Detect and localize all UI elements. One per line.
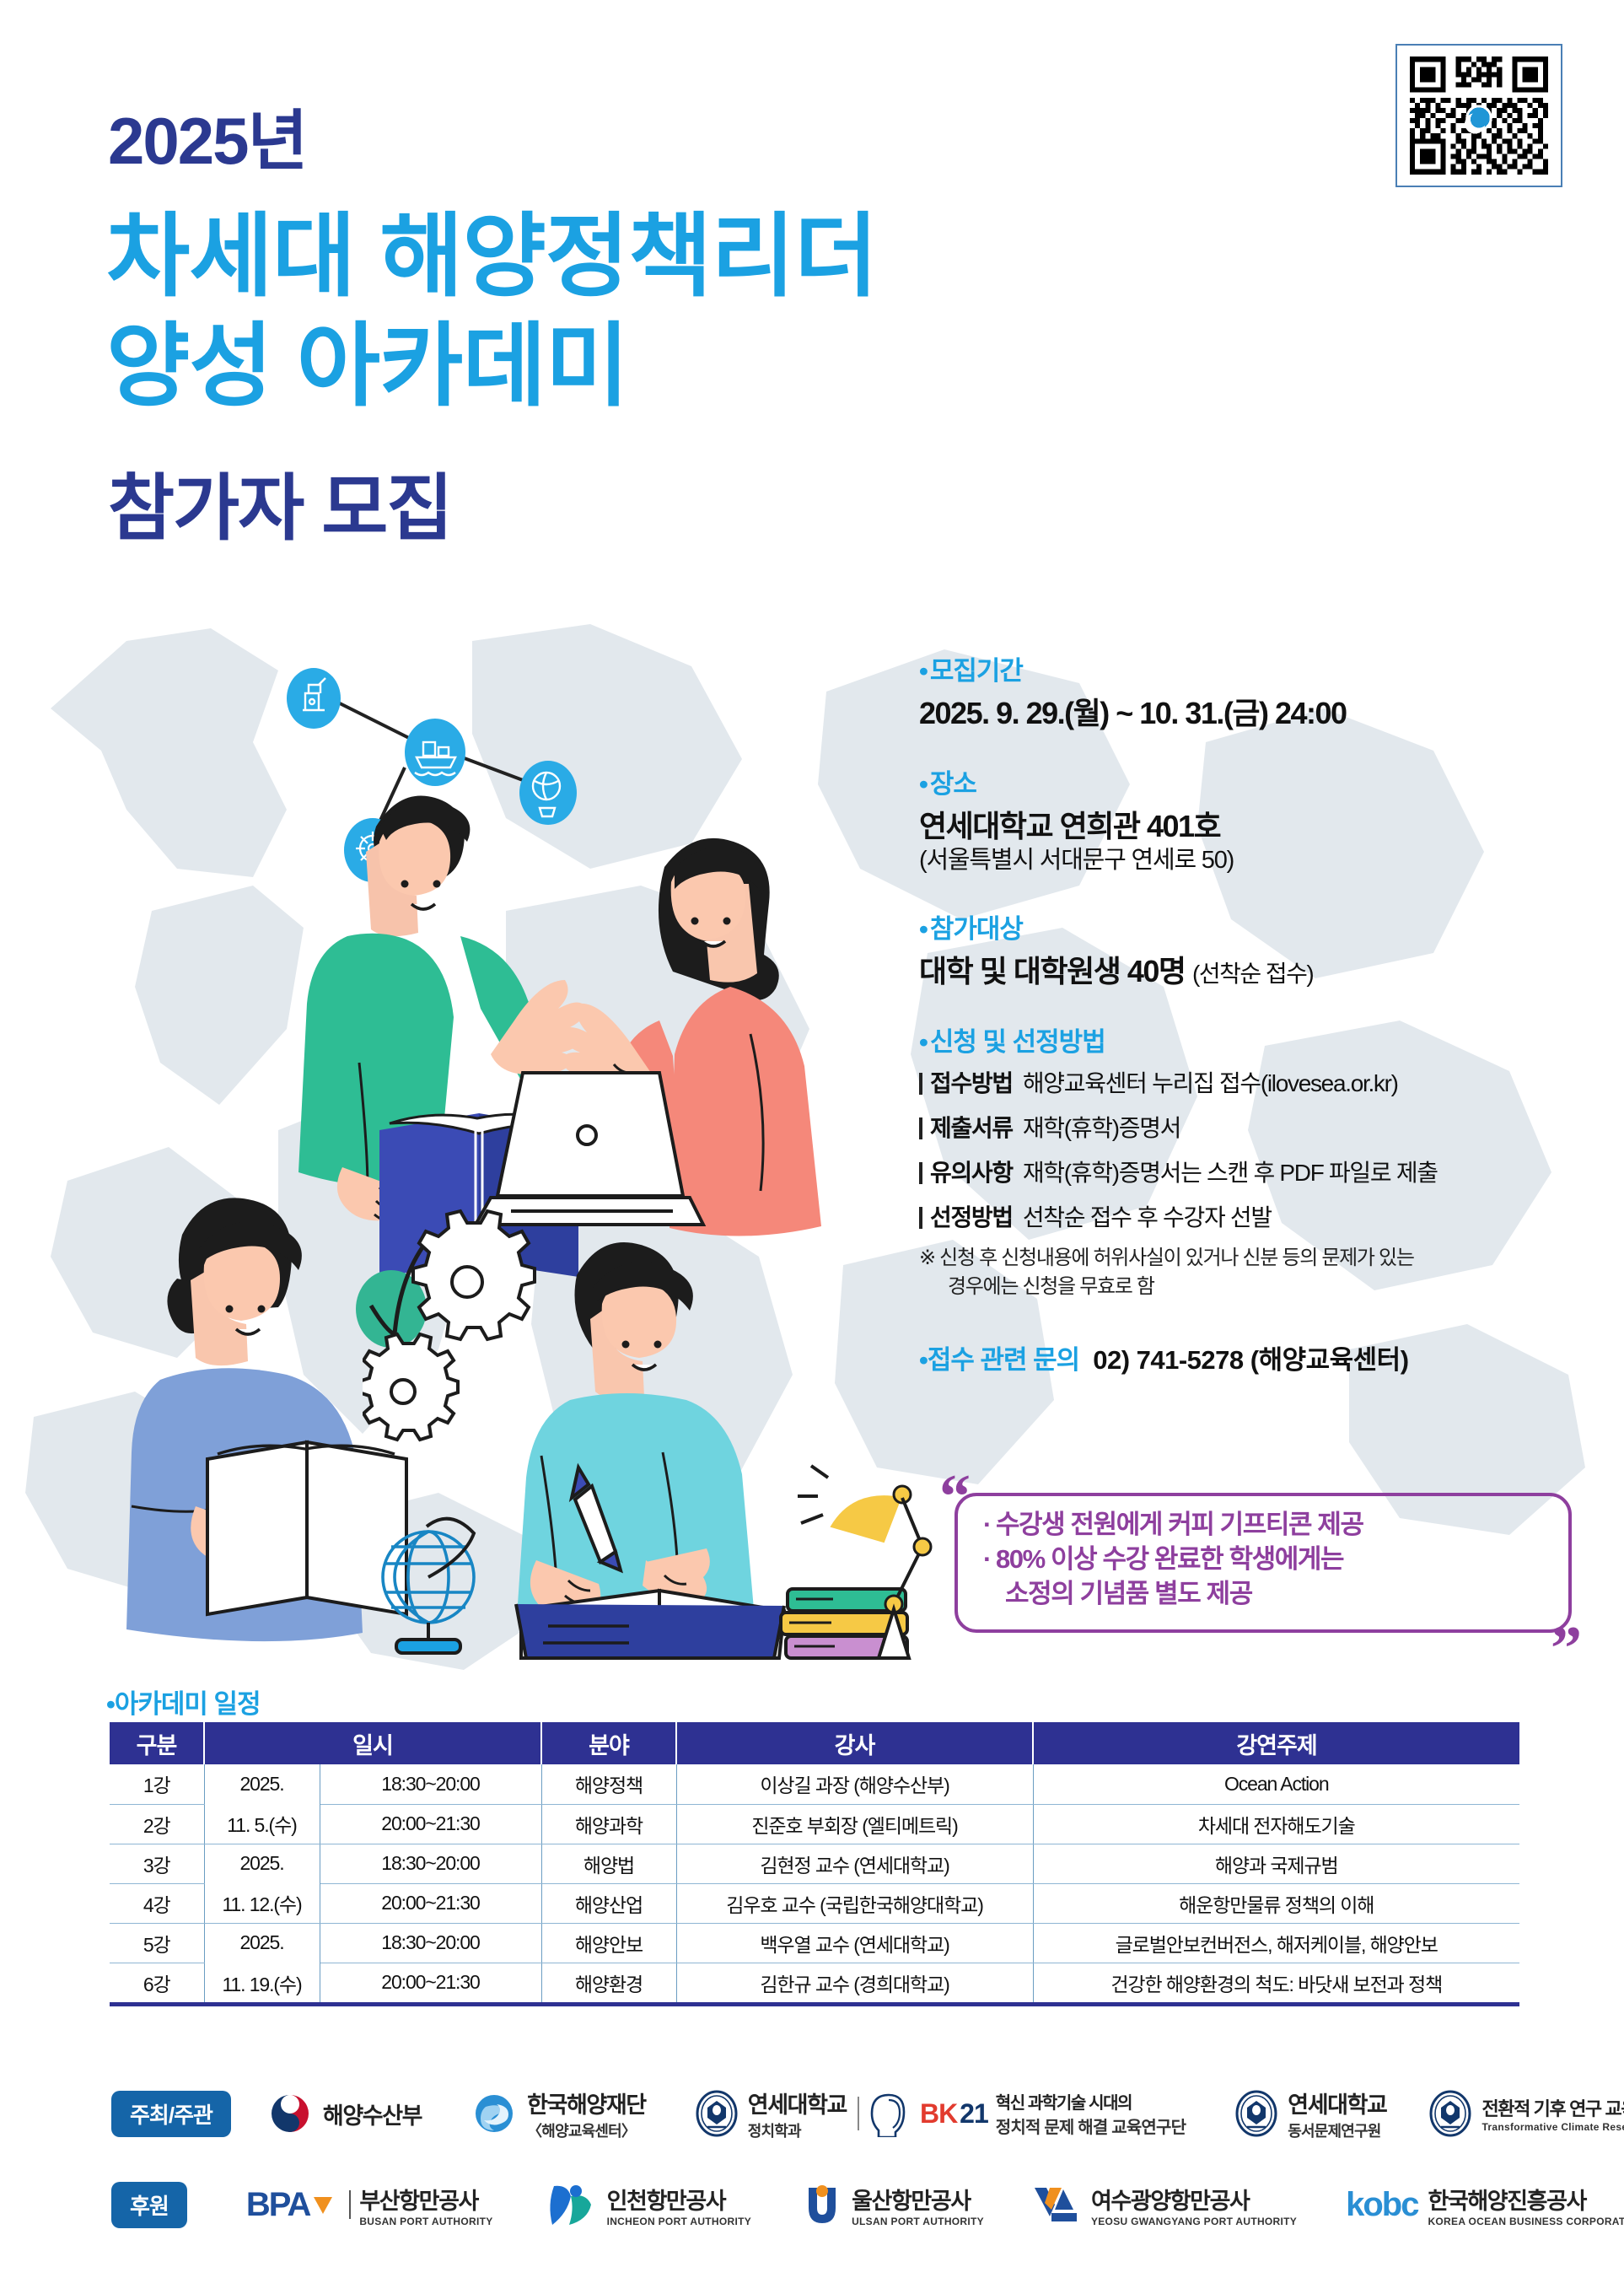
benefit-line: ·80% 이상 수강 완료한 학생에게는 [983, 1543, 1551, 1577]
bullet-dot: • [106, 1689, 115, 1719]
cell-topic: 건강한 해양환경의 척도: 바닷새 보전과 정책 [1033, 1963, 1519, 2002]
cell-time: 20:00~21:30 [320, 1883, 541, 1923]
bullet-dot: • [919, 914, 928, 944]
th-datetime: 일시 [204, 1722, 541, 1764]
icon-bubble-crane [287, 668, 341, 729]
info-apply-block: •신청 및 선정방법 접수방법 해양교육센터 누리집 접수(ilovesea.o… [919, 1020, 1602, 1301]
illustration-person-writing [518, 1242, 754, 1618]
bpa-triangle-icon [312, 2194, 334, 2216]
info-period-value: 2025. 9. 29.(월) ~ 10. 31.(금) 24:00 [919, 694, 1602, 732]
logo-yonsei-ewi: 연세대학교 동서문제연구원 [1234, 2087, 1386, 2141]
poster-title-line1: 차세대 해양정책리더 [106, 211, 877, 302]
logo-mof: 해양수산부 [266, 2090, 422, 2137]
study-illustration [363, 1189, 953, 1661]
benefits-box: “ ” ·수강생 전원에게 커피 기프티콘 제공 ·80% 이상 수강 완료한 … [934, 1478, 1577, 1646]
info-target-label: •참가대상 [919, 907, 1602, 945]
cell-date: 2025. [204, 1764, 320, 1804]
logo-divider [349, 2190, 351, 2219]
cell-field: 해양정책 [541, 1764, 676, 1804]
quote-close-icon: ” [1551, 1618, 1582, 1680]
info-period-block: •모집기간 2025. 9. 29.(월) ~ 10. 31.(금) 24:00 [919, 649, 1602, 732]
apply-row: 선정방법 선착순 접수 후 수강자 선발 [919, 1199, 1602, 1233]
info-contact-label: •접수 관련 문의 [919, 1338, 1079, 1376]
cell-lecturer: 김우호 교수 (국립한국해양대학교) [676, 1883, 1033, 1923]
incheon-port-logo-icon [546, 2181, 598, 2228]
yonsei-shield-icon [1428, 2090, 1472, 2137]
poster-header: 2025년 차세대 해양정책리더 양성 아카데미 참가자 모집 [0, 0, 1624, 590]
yeosu-port-logo-icon [1033, 2183, 1082, 2227]
apply-note: ※ 신청 후 신청내용에 허위사실이 있거나 신분 등의 문제가 있는 경우에는… [919, 1244, 1602, 1301]
poster-subtitle: 참가자 모집 [108, 472, 452, 545]
host-pill-label: 주최/주관 [111, 2091, 231, 2137]
table-row: 1강 2025. 18:30~20:00 해양정책 이상길 과장 (해양수산부)… [110, 1764, 1519, 1804]
kobc-wordmark: kobc [1346, 2186, 1417, 2224]
poster-footer: 주최/주관 해양수산부 한국해양재단 〈해양교육센터〉 [0, 2075, 1624, 2294]
schedule-table-wrap: 구분 일시 분야 강사 강연주제 1강 2025. 18:30~20:00 해양… [110, 1722, 1519, 2006]
logo-tcr: 전환적 기후 연구 교육 사업단 Transformative Climate … [1428, 2090, 1624, 2137]
th-lecturer: 강사 [676, 1722, 1033, 1764]
cell-lecturer: 김현정 교수 (연세대학교) [676, 1844, 1033, 1883]
logo-upa-text: 울산항만공사 ULSAN PORT AUTHORITY [852, 2183, 984, 2227]
table-row: 2강 11. 5.(수) 20:00~21:30 해양과학 진준호 부회장 (엘… [110, 1804, 1519, 1844]
quote-open-icon: “ [939, 1466, 971, 1528]
cell-date: 11. 12.(수) [204, 1883, 320, 1923]
row-bar-icon [919, 1117, 922, 1139]
logo-divider [858, 2097, 859, 2130]
info-contact-block: •접수 관련 문의 02) 741-5278 (해양교육센터) [919, 1338, 1602, 1376]
logo-tcr-text: 전환적 기후 연구 교육 사업단 Transformative Climate … [1481, 2094, 1624, 2133]
cell-lecturer: 이상길 과장 (해양수산부) [676, 1764, 1033, 1804]
logo-bpa: BPA 부산항만공사 BUSAN PORT AUTHORITY [246, 2183, 493, 2227]
info-panel: •모집기간 2025. 9. 29.(월) ~ 10. 31.(금) 24:00… [919, 649, 1602, 1407]
ulsan-port-logo-icon [802, 2181, 842, 2228]
logo-mof-text: 해양수산부 [323, 2097, 422, 2130]
cell-time: 20:00~21:30 [320, 1804, 541, 1844]
schedule-heading: •아카데미 일정 [106, 1683, 261, 1720]
row-bar-icon [919, 1162, 922, 1184]
cell-topic: 차세대 전자해도기술 [1033, 1804, 1519, 1844]
illustration-globe [383, 1519, 474, 1653]
bullet-dot: • [919, 769, 928, 799]
table-row: 5강 2025. 18:30~20:00 해양안보 백우열 교수 (연세대학교)… [110, 1923, 1519, 1963]
info-place-address: (서울특별시 서대문구 연세로 50) [919, 845, 1602, 877]
cell-topic: 해양과 국제규범 [1033, 1844, 1519, 1883]
cell-field: 해양과학 [541, 1804, 676, 1844]
cell-time: 20:00~21:30 [320, 1963, 541, 2002]
table-row: 6강 11. 19.(수) 20:00~21:30 해양환경 김한규 교수 (경… [110, 1963, 1519, 2002]
info-target-note: (선착순 접수) [1192, 961, 1313, 987]
logo-ygpa-text: 여수광양항만공사 YEOSU GWANGYANG PORT AUTHORITY [1091, 2183, 1297, 2227]
icon-bubble-ship [405, 719, 465, 786]
cell-field: 해양환경 [541, 1963, 676, 2002]
logo-kobc: kobc 한국해양진흥공사 KOREA OCEAN BUSINESS CORPO… [1346, 2183, 1624, 2227]
th-field: 분야 [541, 1722, 676, 1764]
apply-row: 접수방법 해양교육센터 누리집 접수(ilovesea.or.kr) [919, 1065, 1602, 1099]
info-place-value: 연세대학교 연희관 401호 [919, 807, 1602, 845]
cell-no: 6강 [110, 1963, 204, 2002]
cell-time: 18:30~20:00 [320, 1764, 541, 1804]
logo-bk21: BK 21 혁신 과학기술 시대의 정치적 문제 해결 교육연구단 [870, 2089, 1186, 2138]
bullet-dot: • [919, 656, 928, 686]
table-header-row: 구분 일시 분야 강사 강연주제 [110, 1722, 1519, 1764]
cell-topic: Ocean Action [1033, 1764, 1519, 1804]
table-row: 4강 11. 12.(수) 20:00~21:30 해양산업 김우호 교수 (국… [110, 1883, 1519, 1923]
gear-icon-small [363, 1334, 458, 1440]
cell-lecturer: 김한규 교수 (경희대학교) [676, 1963, 1033, 2002]
cell-date: 11. 5.(수) [204, 1804, 320, 1844]
th-topic: 강연주제 [1033, 1722, 1519, 1764]
sponsor-logo-row: 후원 BPA 부산항만공사 BUSAN PORT AUTHORITY 인천 [0, 2166, 1624, 2243]
logo-kobc-text: 한국해양진흥공사 KOREA OCEAN BUSINESS CORPORATIO… [1428, 2183, 1624, 2227]
yonsei-shield-icon [695, 2090, 739, 2137]
logo-ipa: 인천항만공사 INCHEON PORT AUTHORITY [546, 2181, 752, 2228]
korea-gov-taegeuk-icon [266, 2090, 314, 2137]
row-bar-icon [919, 1207, 922, 1229]
logo-ygpa: 여수광양항만공사 YEOSU GWANGYANG PORT AUTHORITY [1033, 2183, 1297, 2227]
logo-kmf-text: 한국해양재단 〈해양교육센터〉 [527, 2087, 646, 2141]
logo-kmf: 한국해양재단 〈해양교육센터〉 [471, 2087, 646, 2141]
logo-ipa-text: 인천항만공사 INCHEON PORT AUTHORITY [607, 2183, 752, 2227]
logo-yonsei-politics: 연세대학교 정치학과 [695, 2087, 847, 2141]
poster-title-line2: 양성 아카데미 [106, 320, 628, 412]
poster-year: 2025년 [108, 108, 306, 174]
cell-lecturer: 백우열 교수 (연세대학교) [676, 1923, 1033, 1963]
icon-bubble-globe-plant [519, 761, 577, 825]
bpa-wordmark: BPA [246, 2186, 309, 2224]
bullet-dot: • [919, 1027, 928, 1057]
info-target-block: •참가대상 대학 및 대학원생 40명 (선착순 접수) [919, 907, 1602, 990]
logo-yonsei-ewi-text: 연세대학교 동서문제연구원 [1288, 2087, 1386, 2141]
info-target-value: 대학 및 대학원생 40명 (선착순 접수) [919, 952, 1602, 990]
cell-field: 해양안보 [541, 1923, 676, 1963]
logo-bpa-text: 부산항만공사 BUSAN PORT AUTHORITY [359, 2183, 492, 2227]
benefits-lines: ·수강생 전원에게 커피 기프티콘 제공 ·80% 이상 수강 완료한 학생에게… [983, 1508, 1551, 1612]
host-logo-row: 주최/주관 해양수산부 한국해양재단 〈해양교육센터〉 [0, 2075, 1624, 2152]
cell-date: 11. 19.(수) [204, 1963, 320, 2002]
th-no: 구분 [110, 1722, 204, 1764]
apply-row: 유의사항 재학(휴학)증명서는 스캔 후 PDF 파일로 제출 [919, 1155, 1602, 1188]
cell-lecturer: 진준호 부회장 (엘티메트릭) [676, 1804, 1033, 1844]
benefit-line: ·수강생 전원에게 커피 기프티콘 제공 [983, 1508, 1551, 1543]
table-row: 3강 2025. 18:30~20:00 해양법 김현정 교수 (연세대학교) … [110, 1844, 1519, 1883]
yonsei-shield-icon [1234, 2090, 1278, 2137]
cell-field: 해양법 [541, 1844, 676, 1883]
schedule-table: 구분 일시 분야 강사 강연주제 1강 2025. 18:30~20:00 해양… [110, 1722, 1519, 2002]
cell-topic: 해운항만물류 정책의 이해 [1033, 1883, 1519, 1923]
info-apply-label: •신청 및 선정방법 [919, 1020, 1602, 1058]
cell-time: 18:30~20:00 [320, 1844, 541, 1883]
benefit-line: 소정의 기념품 별도 제공 [983, 1577, 1551, 1612]
apply-row-list: 접수방법 해양교육센터 누리집 접수(ilovesea.or.kr) 제출서류 … [919, 1065, 1602, 1233]
cell-no: 5강 [110, 1923, 204, 1963]
cell-no: 2강 [110, 1804, 204, 1844]
table-bottom-rule [110, 2002, 1519, 2006]
info-place-label: •장소 [919, 762, 1602, 800]
sponsor-pill-label: 후원 [111, 2182, 187, 2228]
ocean-foundation-swirl-icon [471, 2090, 518, 2137]
apply-row: 제출서류 재학(휴학)증명서 [919, 1110, 1602, 1144]
bullet-dot: • [919, 1345, 928, 1375]
qr-code[interactable] [1395, 44, 1562, 187]
info-contact-value: 02) 741-5278 (해양교육센터) [1093, 1338, 1408, 1376]
cell-no: 3강 [110, 1844, 204, 1883]
cell-no: 4강 [110, 1883, 204, 1923]
info-period-label: •모집기간 [919, 649, 1602, 687]
bk21-wordmark: BK [920, 2098, 957, 2130]
cell-topic: 글로벌안보컨버전스, 해저케이블, 해양안보 [1033, 1923, 1519, 1963]
cell-date: 2025. [204, 1844, 320, 1883]
logo-upa: 울산항만공사 ULSAN PORT AUTHORITY [802, 2181, 984, 2228]
row-bar-icon [919, 1073, 922, 1095]
bk21-head-icon [870, 2090, 911, 2137]
info-place-block: •장소 연세대학교 연희관 401호 (서울특별시 서대문구 연세로 50) [919, 762, 1602, 877]
qr-code-icon [1405, 51, 1553, 180]
cell-no: 1강 [110, 1764, 204, 1804]
cell-time: 18:30~20:00 [320, 1923, 541, 1963]
cell-field: 해양산업 [541, 1883, 676, 1923]
logo-yonsei-politics-text: 연세대학교 정치학과 [748, 2087, 847, 2141]
cell-date: 2025. [204, 1923, 320, 1963]
bk21-number: 21 [960, 2098, 988, 2130]
contact-row: •접수 관련 문의 02) 741-5278 (해양교육센터) [919, 1338, 1602, 1376]
gear-icon-large [413, 1211, 535, 1339]
logo-bk21-text: 혁신 과학기술 시대의 정치적 문제 해결 교육연구단 [996, 2089, 1186, 2138]
